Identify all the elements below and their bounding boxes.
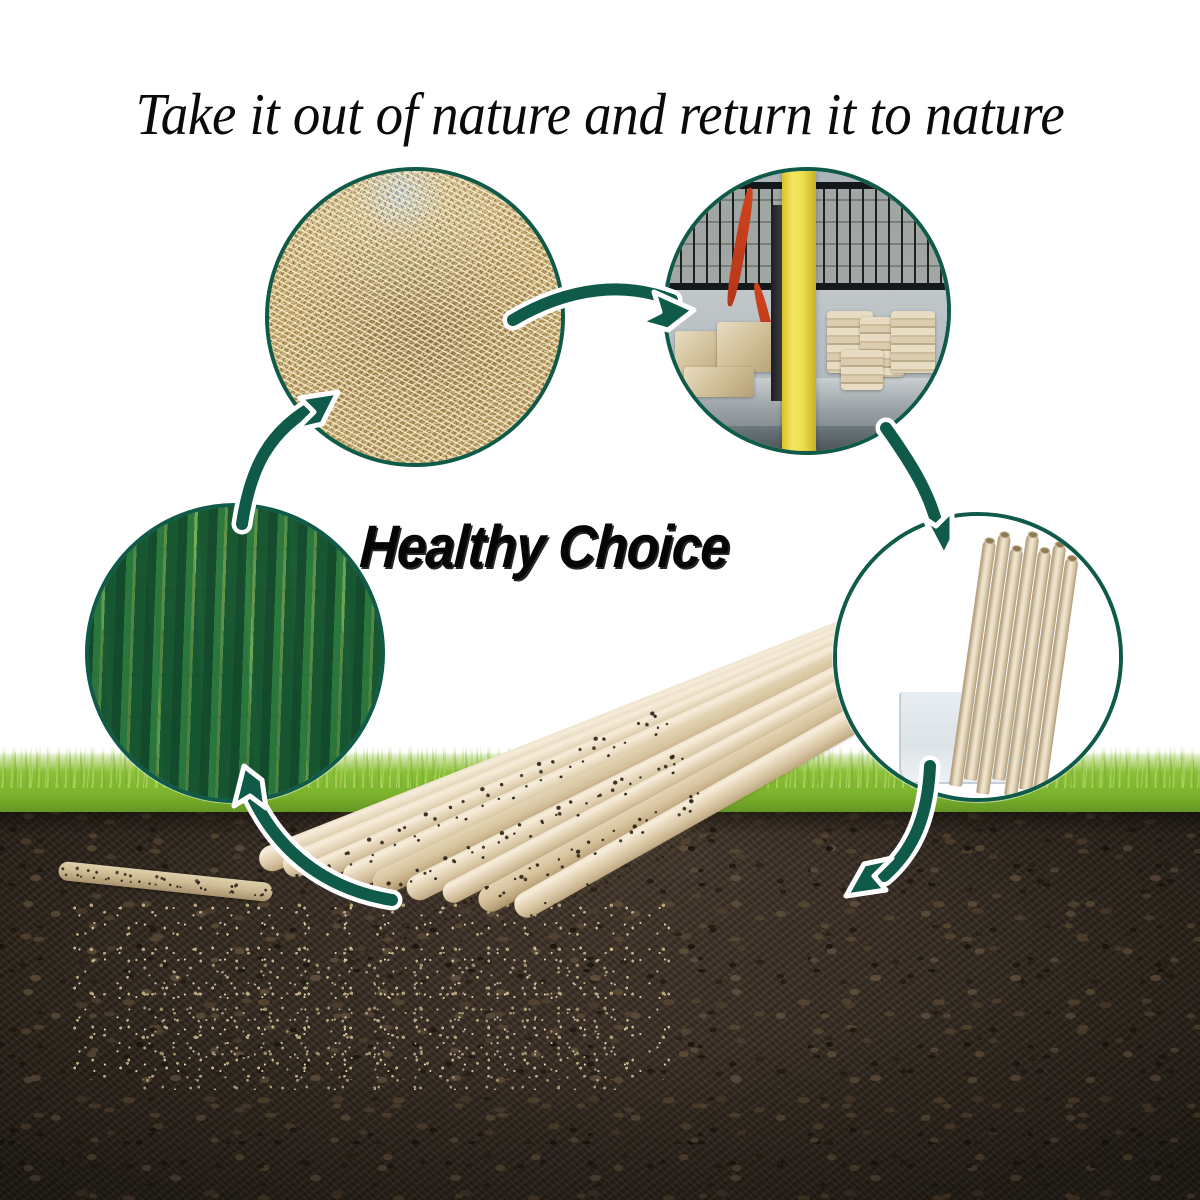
circle-panel-straws[interactable] [833,512,1123,802]
soil-cross-section [0,812,1200,1200]
circle-panel-factory[interactable] [663,167,951,455]
page-headline: Take it out of nature and return it to n… [42,84,1158,145]
factory-bowl-stack [841,350,883,390]
soil-top-edge [0,812,1200,834]
poster-canvas: Take it out of nature and return it to n… [0,0,1200,1200]
straw-bundle-upright [950,527,1096,788]
factory-line-image [667,171,947,451]
fiber-pulp-image [269,171,561,463]
factory-bowl-stack [891,311,935,373]
soil-texture [0,812,1200,1200]
healthy-choice-badge: Healthy Choice [358,512,802,581]
factory-paper-box [684,367,754,397]
circle-panel-fiber[interactable] [265,167,565,467]
factory-yellow-pillar [782,171,816,451]
bamboo-forest-image [89,507,381,799]
circle-panel-bamboo[interactable] [85,503,385,803]
straws-in-glass-image [837,516,1119,798]
